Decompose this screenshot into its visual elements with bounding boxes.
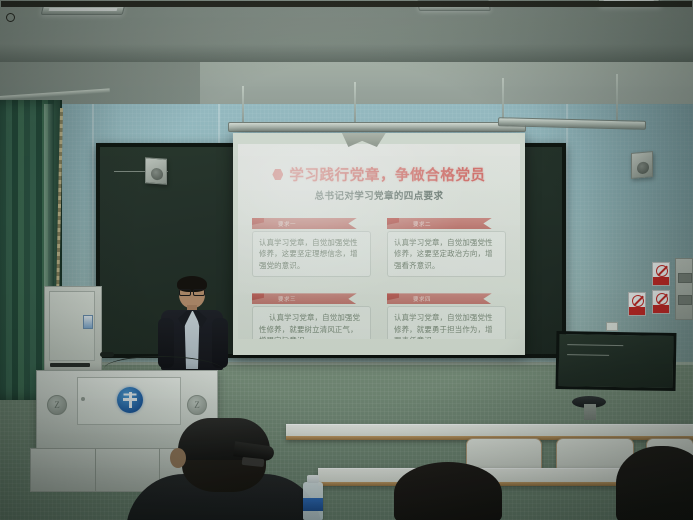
podium-latch[interactable]: [81, 397, 85, 401]
wall-speaker-left: [145, 157, 167, 185]
cabinet-handle[interactable]: [50, 363, 90, 367]
water-bottle[interactable]: [303, 482, 323, 520]
projection-screen: 学习践行党章，争做合格党员 总书记对学习党章的四点要求 要求一 认真学习党章，自…: [233, 133, 525, 355]
audience-person-right-2: [616, 446, 693, 520]
screen-suspension-rod-4: [616, 74, 618, 122]
prohibition-icon: [656, 293, 668, 305]
slide-card: 要求三 认真学习党章，自觉加强党性修养，就要树立清风正气，增强宗旨意识。: [252, 281, 371, 339]
card-text: 认真学习党章，自觉加强党性修养，就要树立清风正气，增强宗旨意识。: [252, 306, 371, 339]
prohibition-sign: [628, 292, 646, 316]
slide-subtitle: 总书记对学习党章的四点要求: [238, 188, 520, 202]
flag-icon: [247, 289, 264, 301]
card-text: 认真学习党章，自觉加强党性修养，就要勇于担当作为，增强责任意识。: [387, 306, 506, 339]
card-label: 要求三: [278, 295, 296, 303]
slide-card-grid: 要求一 认真学习党章，自觉加强党性修养，这要坚定理想信念，增强党的意识。 要求二…: [252, 206, 506, 339]
microphone-head[interactable]: [100, 352, 114, 357]
flag-icon: [247, 214, 264, 226]
bottle-cap[interactable]: [307, 475, 319, 483]
podium-seal-right: Z: [187, 395, 207, 415]
flag-icon: [382, 289, 399, 301]
stool-stand: [584, 404, 596, 420]
panel-slot-2: [678, 295, 692, 305]
podium-seal-left: Z: [47, 395, 67, 415]
slide-surface: 学习践行党章，争做合格党员 总书记对学习党章的四点要求 要求一 认真学习党章，自…: [238, 144, 520, 339]
projection-screen-housing: [228, 122, 526, 132]
card-label: 要求四: [413, 295, 431, 303]
blue-circular-emblem-icon: [117, 387, 143, 413]
card-label: 要求一: [278, 220, 296, 228]
sign-caption-bar: [653, 305, 669, 313]
card-ribbon: 要求二: [387, 218, 492, 229]
screen-suspension-rod-2: [354, 82, 356, 124]
no-smoking-sign: [652, 262, 670, 286]
chalk-mark-3: [567, 354, 609, 356]
slide-title-row: 学习践行党章，争做合格党员: [238, 164, 520, 185]
audience-ear: [170, 448, 186, 468]
warning-sign-symbol-icon: [6, 13, 15, 22]
podium-base-seam-1: [95, 449, 96, 491]
blackboard-right-section: [556, 331, 677, 391]
warning-sign-header: [1, 1, 692, 7]
sign-caption-bar: [653, 277, 669, 285]
wall-outlet: [606, 322, 618, 331]
glasses-icon: [179, 289, 205, 294]
card-text: 认真学习党章，自觉加强党性修养，这要坚定理想信念，增强党的意识。: [252, 231, 371, 277]
wall-speaker-right: [631, 151, 653, 179]
slide-card: 要求一 认真学习党章，自觉加强党性修养，这要坚定理想信念，增强党的意识。: [252, 206, 371, 277]
wall-control-panel[interactable]: [675, 258, 693, 320]
screen-suspension-rod-1: [242, 86, 244, 124]
slide-card: 要求二 认真学习党章，自觉加强党性修养，这要坚定政治方向，增强看齐意识。: [387, 206, 506, 277]
slide-title: 学习践行党章，争做合格党员: [289, 164, 485, 185]
bottle-label: [303, 498, 323, 511]
card-text: 认真学习党章，自觉加强党性修养，这要坚定政治方向，增强看齐意识。: [387, 231, 506, 277]
screen-suspension-rod-3: [502, 78, 504, 122]
chalk-mark-2: [567, 344, 623, 346]
presenter-arm-right: [212, 318, 228, 368]
no-entry-sign: [652, 290, 670, 314]
prohibition-icon: [656, 265, 668, 277]
prohibition-icon: [632, 295, 644, 307]
flag-icon: [382, 214, 399, 226]
classroom-photo-scene: 学习践行党章，争做合格党员 总书记对学习党章的四点要求 要求一 认真学习党章，自…: [0, 0, 693, 520]
audience-person-right-1: [394, 462, 502, 520]
sign-caption-bar: [629, 307, 645, 315]
card-ribbon: 要求四: [387, 293, 492, 304]
audience-person-with-cap: [126, 418, 322, 520]
panel-slot-1: [678, 273, 692, 283]
equipment-cabinet[interactable]: [44, 286, 102, 378]
card-ribbon: 要求三: [252, 293, 357, 304]
slide-card: 要求四 认真学习党章，自觉加强党性修养，就要勇于担当作为，增强责任意识。: [387, 281, 506, 339]
cabinet-sticker: [83, 315, 93, 329]
hexagon-bullet-icon: [272, 169, 283, 180]
card-ribbon: 要求一: [252, 218, 357, 229]
card-label: 要求二: [413, 220, 431, 228]
